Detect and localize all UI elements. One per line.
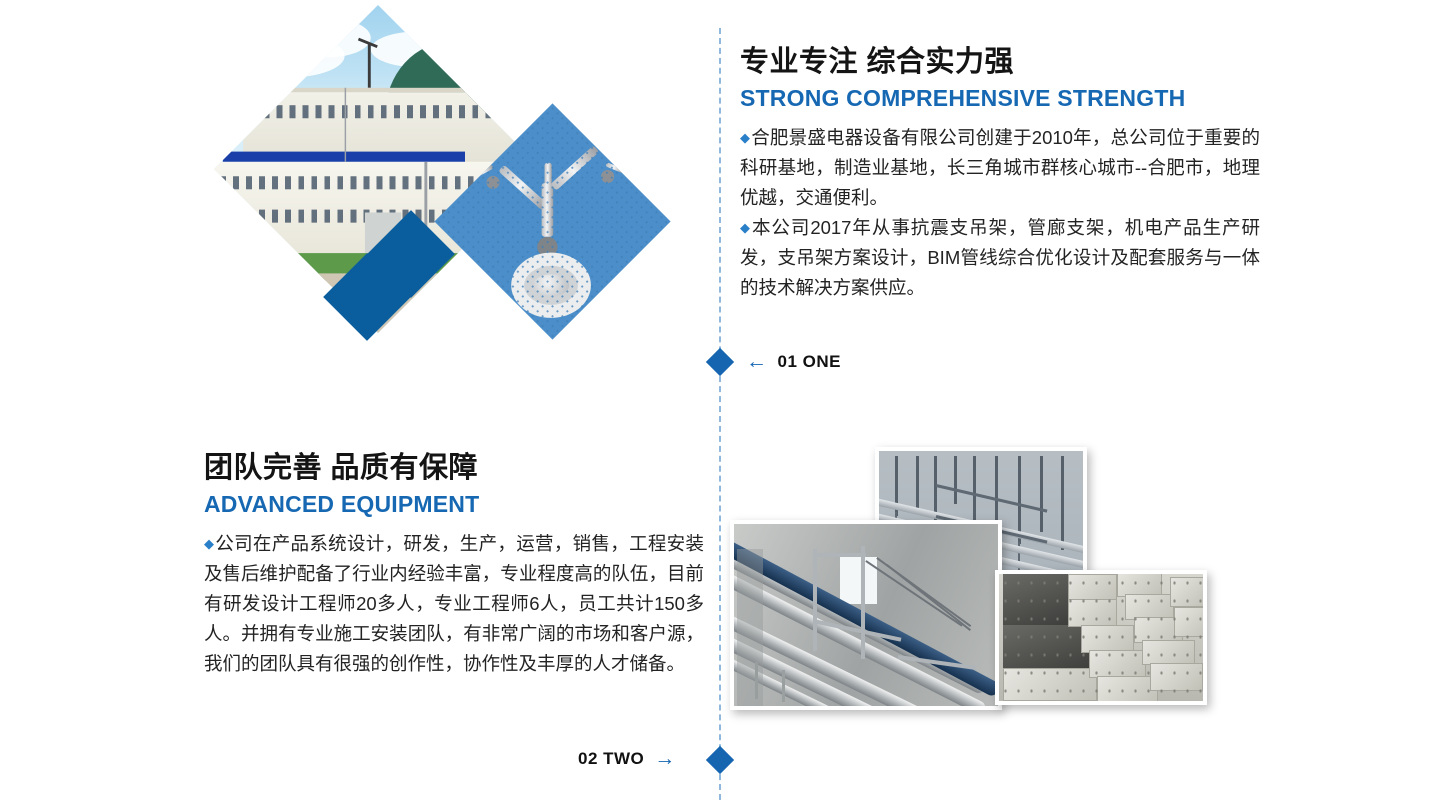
arrow-right-icon: → <box>654 748 676 769</box>
section-01-strength: 专业专注 综合实力强 STRONG COMPREHENSIVE STRENGTH… <box>740 44 1260 303</box>
section-01-paragraph-2-text: 本公司2017年从事抗震支吊架，管廊支架，机电产品生产研发，支吊架方案设计，BI… <box>740 217 1260 298</box>
section-01-paragraph-2: ◆本公司2017年从事抗震支吊架，管廊支架，机电产品生产研发，支吊架方案设计，B… <box>740 213 1260 303</box>
equipment-photo-collage <box>730 420 1250 740</box>
bullet-diamond-icon: ◆ <box>740 130 750 145</box>
marker-02: 02 TWO → <box>578 748 676 769</box>
section-02-paragraph-1-text: 公司在产品系统设计，研发，生产，运营，销售，工程安装及售后维护配备了行业内经验丰… <box>204 533 704 674</box>
bullet-diamond-icon: ◆ <box>740 220 751 235</box>
diamond-image-collage <box>200 18 730 398</box>
marker-01: ← 01 ONE <box>746 351 841 372</box>
section-01-paragraph-1: ◆合肥景盛电器设备有限公司创建于2010年，总公司位于重要的科研基地，制造业基地… <box>740 123 1260 213</box>
cable-tray-stack-scene <box>999 574 1203 701</box>
bullet-diamond-icon: ◆ <box>204 536 214 551</box>
section-01-paragraph-1-text: 合肥景盛电器设备有限公司创建于2010年，总公司位于重要的科研基地，制造业基地，… <box>740 127 1260 208</box>
timeline-diamond-02 <box>706 746 734 774</box>
arrow-left-icon: ← <box>746 351 768 372</box>
section-02-equipment: 团队完善 品质有保障 ADVANCED EQUIPMENT ◆公司在产品系统设计… <box>204 450 704 679</box>
section-01-title-en: STRONG COMPREHENSIVE STRENGTH <box>740 84 1260 113</box>
pipe-gallery-scene <box>734 524 998 706</box>
pipe-gallery-photo <box>730 520 1002 710</box>
marker-02-label: 02 TWO <box>578 749 644 769</box>
cable-tray-stack-photo <box>995 570 1207 705</box>
marker-01-label: 01 ONE <box>778 352 841 372</box>
section-02-title-cn: 团队完善 品质有保障 <box>204 450 704 486</box>
section-02-paragraph-1: ◆公司在产品系统设计，研发，生产，运营，销售，工程安装及售后维护配备了行业内经验… <box>204 529 704 679</box>
section-01-title-cn: 专业专注 综合实力强 <box>740 44 1260 80</box>
section-02-title-en: ADVANCED EQUIPMENT <box>204 490 704 519</box>
